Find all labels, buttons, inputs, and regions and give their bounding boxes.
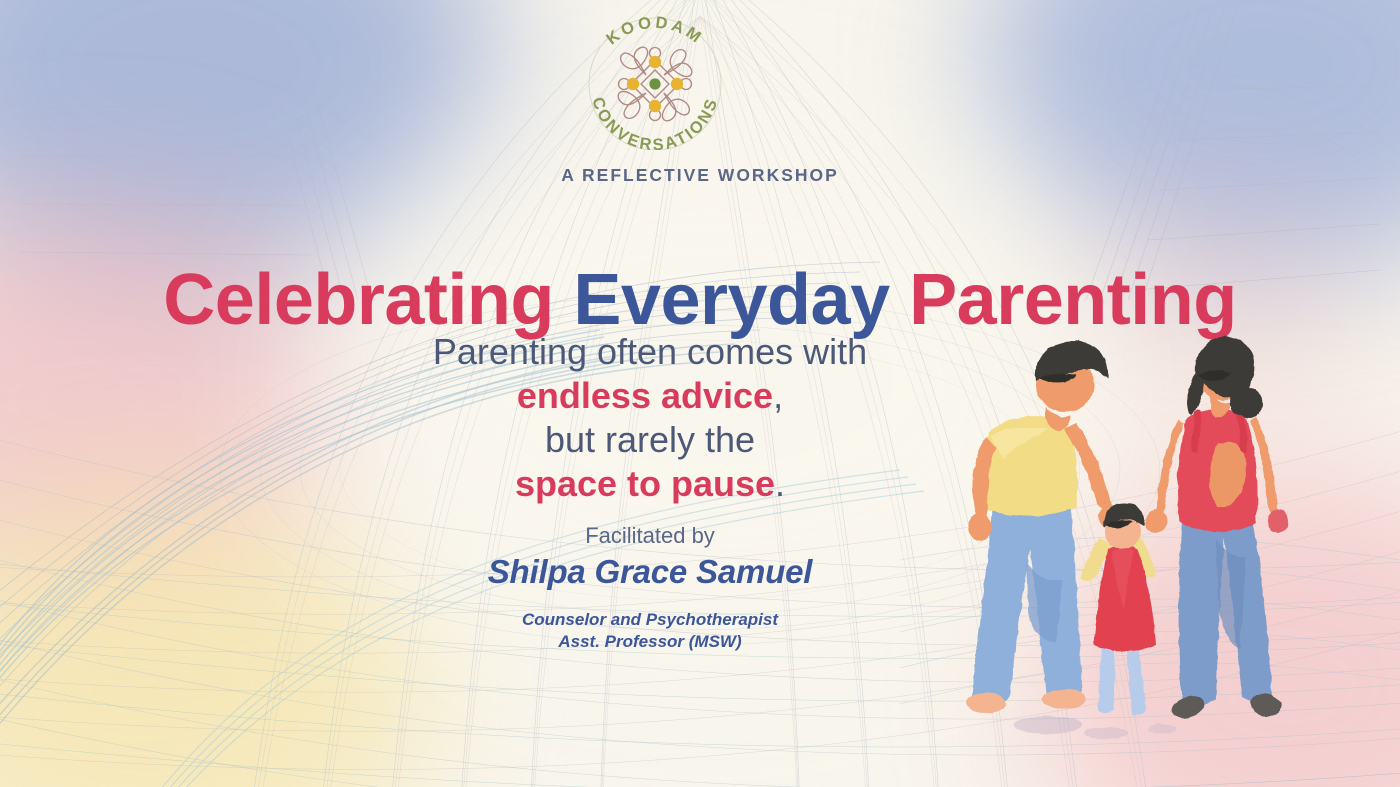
svg-text:KOODAM: KOODAM	[603, 14, 707, 48]
child-leg-left	[1098, 643, 1115, 713]
kolam-dot-top	[649, 56, 661, 68]
ground-shadows	[1014, 716, 1176, 739]
title-part-celebrating: Celebrating	[163, 260, 573, 340]
mother-hair-bun	[1237, 388, 1263, 418]
logo-top-text: KOODAM	[603, 14, 707, 48]
body-highlight-space-to-pause: space to pause	[515, 463, 775, 504]
father-hand-left	[968, 513, 992, 541]
body-line-2-tail: ,	[773, 375, 783, 416]
kolam-dot-bottom	[649, 100, 661, 112]
poster-canvas: KOODAM CONVERSATIONS	[0, 0, 1400, 787]
father-foot-left	[966, 693, 1006, 713]
body-highlight-endless-advice: endless advice	[517, 375, 773, 416]
figure-mother	[1145, 337, 1289, 722]
mother-hand-right	[1267, 509, 1289, 533]
mother-hand-left	[1145, 509, 1167, 533]
father-foot-right	[1042, 689, 1086, 709]
koodam-conversations-logo: KOODAM CONVERSATIONS	[577, 14, 733, 150]
kolam-emblem	[618, 47, 692, 121]
poster-content: KOODAM CONVERSATIONS	[0, 0, 1400, 787]
kolam-center-dot	[649, 78, 660, 89]
mother-strap-left	[1194, 413, 1198, 449]
workshop-eyebrow-label: A REFLECTIVE WORKSHOP	[0, 165, 1400, 186]
figure-father	[966, 341, 1121, 713]
kolam-dot-right	[671, 78, 683, 90]
family-watercolor-illustration	[930, 325, 1300, 755]
body-line-4-tail: .	[775, 463, 785, 504]
kolam-dot-left	[627, 78, 639, 90]
child-leg-right	[1126, 643, 1146, 716]
title-part-everyday: Everyday	[573, 260, 909, 340]
figure-child	[1080, 503, 1156, 716]
